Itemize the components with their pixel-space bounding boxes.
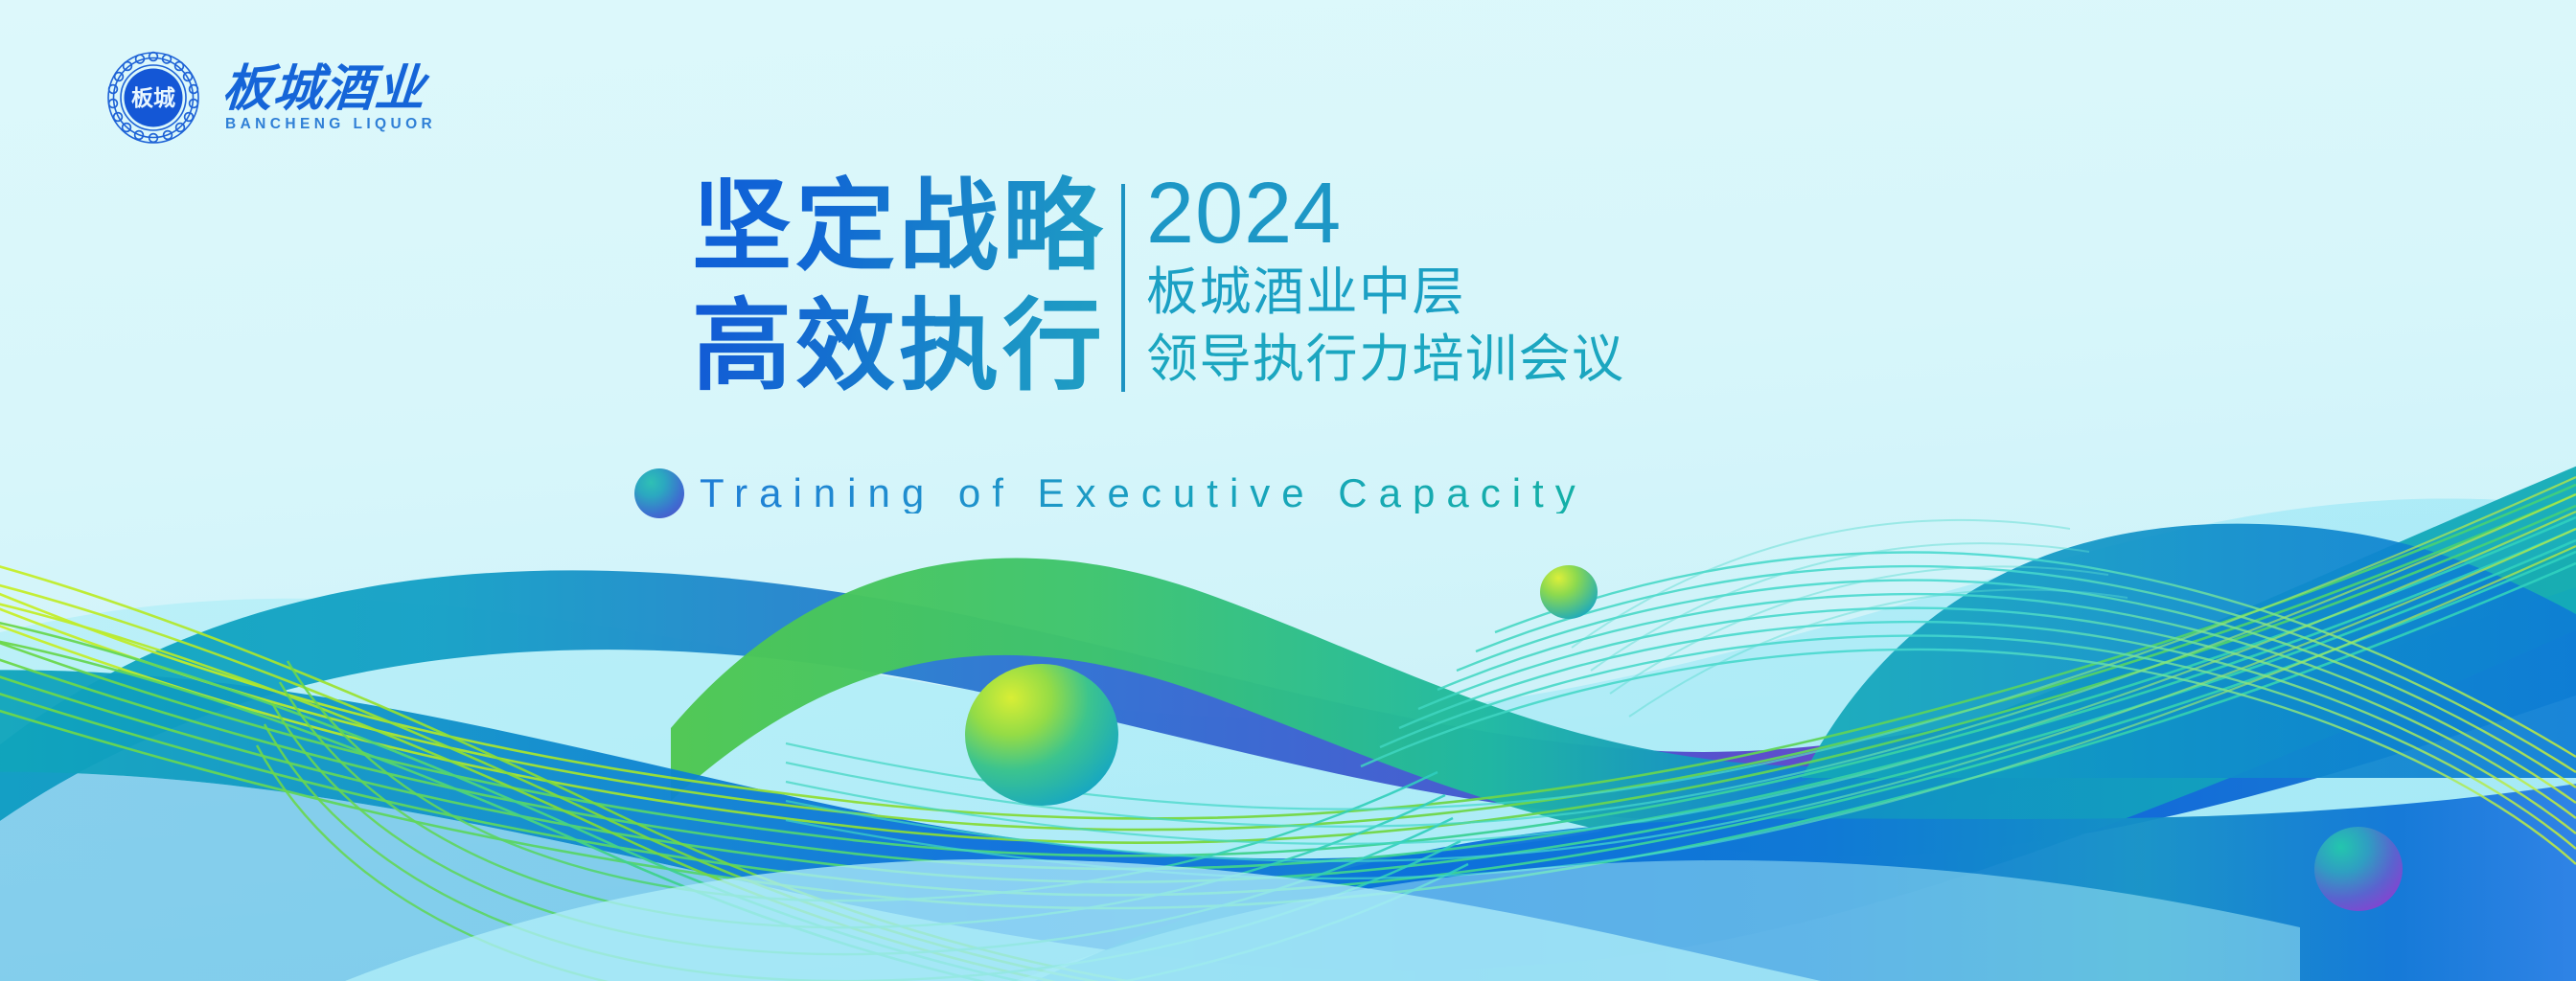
event-subtitle-line-2: 领导执行力培训会议: [1146, 326, 1625, 393]
headline-group: 坚定战略 高效执行 2024 板城酒业中层 领导执行力培训会议: [692, 169, 1625, 405]
headline-main: 坚定战略 高效执行: [692, 169, 1106, 405]
seal-icon: 板城: [105, 50, 201, 146]
conference-banner: 板城 板城酒业 BANCHENG LIQUOR 坚定战略 高效执行 2024 板…: [0, 0, 2576, 981]
logo-wordmark: 板城酒业 BANCHENG LIQUOR: [222, 63, 436, 132]
brand-logo[interactable]: 板城 板城酒业 BANCHENG LIQUOR: [105, 50, 436, 146]
event-subtitle-line-1: 板城酒业中层: [1146, 259, 1625, 326]
headline-line-2: 高效执行: [692, 288, 1106, 406]
small-green-sphere: [1540, 565, 1598, 619]
bottom-right-sphere: [2314, 827, 2403, 911]
logo-brand-cn: 板城酒业: [220, 65, 438, 115]
english-subtitle: Training of Executive Capacity: [700, 473, 1587, 513]
large-green-sphere: [965, 664, 1118, 806]
logo-brand-en: BANCHENG LIQUOR: [222, 117, 436, 132]
seal-text: 板城: [131, 85, 175, 110]
headline-meta: 2024 板城酒业中层 领导执行力培训会议: [1125, 169, 1625, 393]
headline-line-1: 坚定战略: [692, 169, 1106, 286]
english-bullet-sphere-icon: [634, 468, 684, 518]
english-subtitle-row: Training of Executive Capacity: [634, 468, 1587, 518]
event-year: 2024: [1146, 171, 1625, 259]
